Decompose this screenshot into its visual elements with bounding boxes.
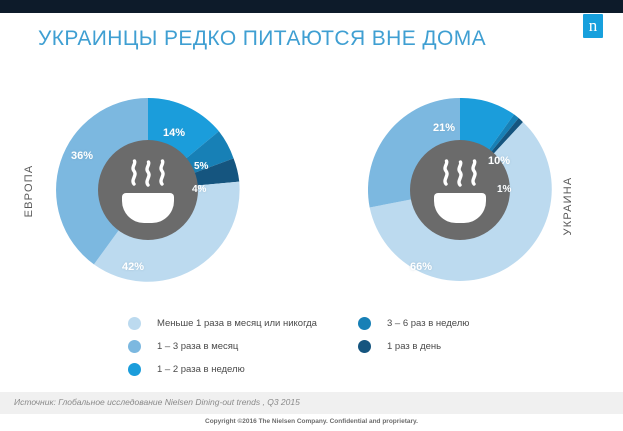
legend-label: Меньше 1 раза в месяц или никогда: [157, 318, 317, 329]
legend-swatch-icon: [128, 363, 141, 376]
page-title: УКРАИНЦЫ РЕДКО ПИТАЮТСЯ ВНЕ ДОМА: [38, 27, 486, 51]
value-label-europe-36: 36%: [71, 150, 93, 162]
value-label-ukraine-1a: 1%: [497, 184, 511, 195]
chart-legend: Меньше 1 раза в месяц или никогда 1 – 3 …: [0, 312, 623, 382]
legend-item-1-3-month[interactable]: 1 – 3 раза в месяц: [128, 335, 317, 358]
donut-chart-ukraine: 21% 10% 1% 66%: [358, 88, 562, 292]
legend-item-3-6-week[interactable]: 3 – 6 раз в неделю: [358, 312, 469, 335]
legend-label: 3 – 6 раз в неделю: [387, 318, 469, 329]
legend-label: 1 – 3 раза в месяц: [157, 341, 238, 352]
slide-canvas: n УКРАИНЦЫ РЕДКО ПИТАЮТСЯ ВНЕ ДОМА: [0, 0, 623, 431]
legend-swatch-icon: [358, 340, 371, 353]
legend-swatch-icon: [128, 317, 141, 330]
legend-label: 1 – 2 раза в неделю: [157, 364, 245, 375]
legend-swatch-icon: [358, 317, 371, 330]
top-accent-bar: [0, 0, 623, 13]
value-label-europe-14: 14%: [163, 127, 185, 139]
legend-swatch-icon: [128, 340, 141, 353]
legend-label: 1 раз в день: [387, 341, 441, 352]
value-label-europe-5: 5%: [194, 161, 208, 172]
value-label-ukraine-21: 21%: [433, 122, 455, 134]
source-note: Источник: Глобальное исследование Nielse…: [14, 397, 300, 407]
legend-item-1-2-week[interactable]: 1 – 2 раза в неделю: [128, 358, 317, 381]
value-label-europe-42: 42%: [122, 261, 144, 273]
donut-chart-europe: 14% 5% 4% 36% 42%: [46, 88, 250, 292]
legend-item-rarely[interactable]: Меньше 1 раза в месяц или никогда: [128, 312, 317, 335]
value-label-ukraine-66: 66%: [410, 261, 432, 273]
donut-ukraine-svg: [358, 88, 562, 292]
legend-column-left: Меньше 1 раза в месяц или никогда 1 – 3 …: [128, 312, 317, 381]
region-label-europe: ЕВРОПА: [23, 156, 35, 226]
legend-item-daily[interactable]: 1 раз в день: [358, 335, 469, 358]
region-label-ukraine: УКРАИНА: [562, 171, 574, 241]
nielsen-logo: n: [583, 14, 603, 38]
copyright-note: Copyright ©2016 The Nielsen Company. Con…: [0, 418, 623, 425]
value-label-europe-4: 4%: [192, 184, 206, 195]
nielsen-logo-letter: n: [583, 14, 603, 38]
value-label-ukraine-10: 10%: [488, 155, 510, 167]
legend-column-right: 3 – 6 раз в неделю 1 раз в день: [358, 312, 469, 358]
donut-europe-svg: [46, 88, 250, 292]
donut-europe-center-disc: [98, 140, 198, 240]
